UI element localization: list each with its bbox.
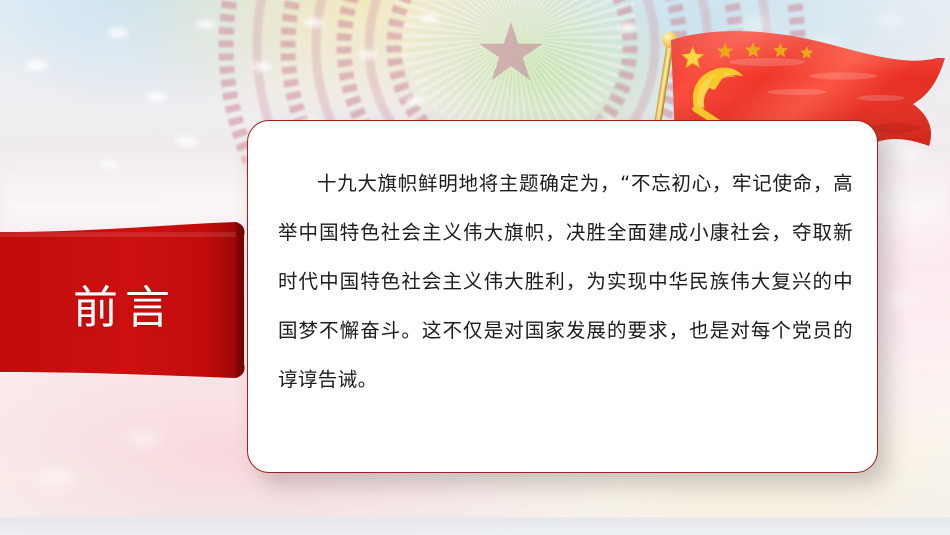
content-card: 十九大旗帜鲜明地将主题确定为，“不忘初心，牢记使命，高举中国特色社会主义伟大旗帜… <box>247 120 878 473</box>
section-title-ribbon: 前言 <box>0 222 252 384</box>
background-bottom-strip <box>0 517 950 535</box>
section-title-text: 前言 <box>0 222 244 384</box>
content-card-text: 十九大旗帜鲜明地将主题确定为，“不忘初心，牢记使命，高举中国特色社会主义伟大旗帜… <box>278 159 853 404</box>
slide-canvas: 前言 十九大旗帜鲜明地将主题确定为，“不忘初心，牢记使命，高举中国特色社会主义伟… <box>0 0 950 535</box>
